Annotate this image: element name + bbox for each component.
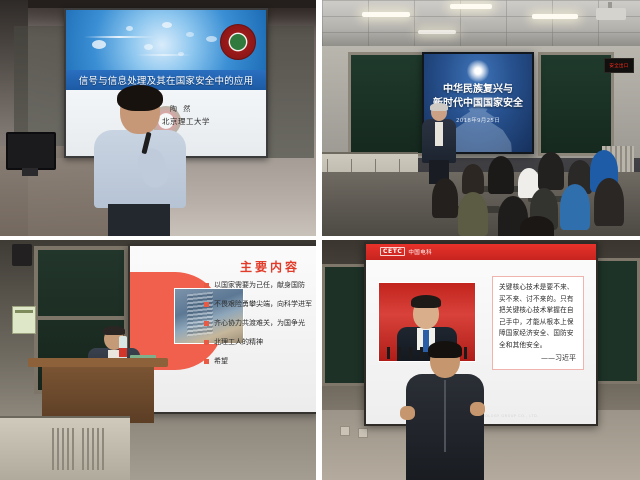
audience-member — [432, 178, 458, 218]
cetc-logo-label: 中国电科 — [408, 248, 432, 256]
bullet-marker-icon — [204, 283, 209, 288]
bullet-item: 不畏艰险勇攀尖端，向科学进军 — [204, 299, 312, 309]
decorative-bubble — [126, 26, 133, 31]
ceiling-lamp — [450, 4, 492, 9]
bullet-text: 以国家需要为己任，献身国防 — [214, 280, 305, 290]
photo-panel-bottom-right: CETC 中国电科 关键核心技术是要不来、买不来、讨不来的。只有把关键核心技术掌… — [322, 240, 640, 480]
quote-box: 关键核心技术是要不来、买不来、讨不来的。只有把关键核心技术掌握在自己手中，才能从… — [492, 276, 584, 370]
notice-board — [12, 306, 36, 334]
lecturer-figure — [422, 104, 456, 182]
bullet-text: 齐心协力共渡难关，为国争光 — [214, 318, 305, 328]
audience-member — [560, 184, 590, 230]
lecturer-hair — [430, 103, 448, 111]
cetc-logo-mark: CETC — [380, 247, 405, 256]
ceiling-lamp — [418, 30, 456, 34]
quote-attribution: ——习近平 — [541, 353, 576, 363]
bullet-item: 以国家需要为己任，献身国防 — [204, 280, 312, 290]
computer-monitor — [6, 132, 56, 170]
speaker-hair — [103, 326, 125, 335]
slide-glow-graphic — [467, 60, 489, 82]
photo-collage-grid: 信号与信息处理及其在国家安全中的应用 陶 然 北京理工大学 — [0, 0, 640, 480]
bullet-text: 希望 — [214, 356, 228, 366]
speaker-hair — [117, 85, 163, 111]
bullet-item: 齐心协力共渡难关，为国争光 — [204, 318, 312, 328]
quote-text: 关键核心技术是要不来、买不来、讨不来的。只有把关键核心技术掌握在自己手中，才能从… — [499, 282, 577, 351]
bullet-text: 不畏艰险勇攀尖端，向科学进军 — [214, 299, 312, 309]
slide-title-line1: 中华民族复兴与 — [424, 80, 532, 95]
audience-member — [520, 216, 554, 236]
audience-member — [458, 192, 488, 236]
speaker-hand — [400, 406, 415, 420]
speaker-hair — [428, 341, 462, 358]
chalkboard-left — [348, 52, 428, 156]
audience-member — [488, 156, 514, 194]
slide-title: 信号与信息处理及其在国家安全中的应用 — [79, 73, 254, 87]
bullet-marker-icon — [204, 340, 209, 345]
speaker-trousers — [108, 204, 170, 236]
wall-speaker — [12, 244, 32, 266]
ceiling-lamp — [362, 12, 410, 17]
wall-socket — [340, 426, 350, 436]
cetc-logo: CETC 中国电科 — [380, 247, 432, 256]
slide-title: 主要内容 — [240, 258, 300, 275]
radiator-cabinet — [0, 416, 130, 480]
slide-header-graphic — [66, 10, 266, 70]
university-emblem-icon — [220, 24, 256, 60]
photo-panel-top-left: 信号与信息处理及其在国家安全中的应用 陶 然 北京理工大学 — [0, 0, 316, 236]
speaker-figure — [406, 344, 484, 480]
projection-screen: 主要内容 以国家需要为己任，献身国防 不畏艰险勇攀尖端，向科学进军 齐心协力共渡… — [128, 244, 316, 414]
speaker-figure — [92, 88, 188, 236]
bullet-text: 北理工人的精神 — [214, 337, 263, 347]
lecturer-shirt — [435, 122, 443, 146]
chalkboard-right — [538, 52, 614, 156]
portrait-hair — [411, 295, 441, 308]
bullet-marker-icon — [204, 359, 209, 364]
photo-panel-bottom-left: 主要内容 以国家需要为己任，献身国防 不畏艰险勇攀尖端，向科学进军 齐心协力共渡… — [0, 240, 316, 480]
bullet-marker-icon — [204, 321, 209, 326]
ceiling-strip — [0, 0, 316, 8]
bullet-item: 希望 — [204, 356, 312, 366]
exit-sign: 安全出口 — [604, 58, 634, 73]
speaker-hand — [470, 402, 485, 416]
audience-member — [594, 178, 624, 226]
podium — [42, 367, 154, 423]
ceiling-projector — [596, 8, 626, 20]
decorative-bubble — [186, 32, 194, 37]
bullet-marker-icon — [204, 302, 209, 307]
bullet-item: 北理工人的精神 — [204, 337, 312, 347]
decorative-bubble — [162, 22, 172, 28]
decorative-bubble — [144, 44, 153, 50]
photo-panel-top-right: 中华民族复兴与 新时代中国国家安全 2018年9月25日 安全出口 — [322, 0, 640, 236]
exit-sign-label: 安全出口 — [609, 63, 628, 69]
audience-member — [462, 164, 484, 194]
decorative-bubble — [206, 36, 217, 42]
podium-top — [28, 358, 168, 367]
decorative-bubble — [92, 40, 106, 49]
slide-title-bar: 信号与信息处理及其在国家安全中的应用 — [66, 70, 266, 90]
slide-bullet-list: 以国家需要为己任，献身国防 不畏艰险勇攀尖端，向科学进军 齐心协力共渡难关，为国… — [204, 280, 312, 375]
jacket-zipper — [444, 380, 446, 452]
audience-member — [538, 152, 564, 190]
ceiling-lamp — [532, 14, 578, 19]
slide-header-bar: CETC 中国电科 — [366, 244, 596, 260]
decorative-streak — [84, 36, 154, 38]
wall-socket — [358, 428, 368, 438]
decorative-streak — [136, 54, 192, 56]
